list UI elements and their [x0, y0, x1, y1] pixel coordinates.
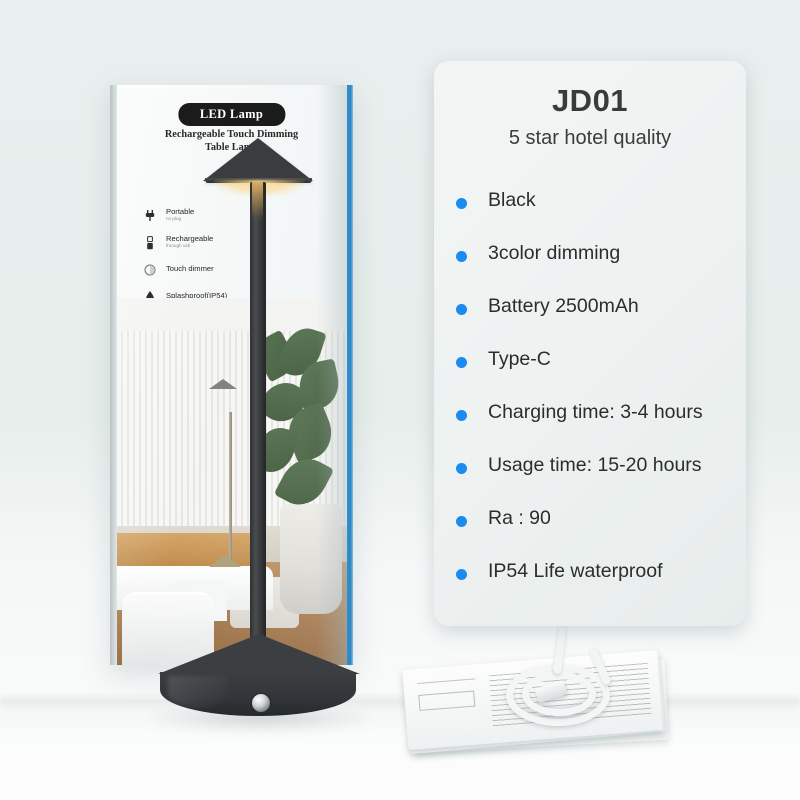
spec-label: Type-C [488, 348, 551, 371]
photo-lamp-base [209, 555, 241, 567]
plug-icon [144, 209, 156, 223]
photo-lamp-stem [229, 412, 232, 562]
box-feature-sub: through usb [166, 243, 190, 248]
box-feature-portable: Portable no plug [144, 207, 284, 229]
bullet-icon [456, 251, 467, 262]
manual-diagram-box [418, 691, 475, 711]
spec-item: Usage time: 15-20 hours [456, 454, 736, 507]
box-right-shading [317, 85, 347, 665]
bullet-icon [456, 463, 467, 474]
spec-label: Usage time: 15-20 hours [488, 454, 702, 477]
bullet-icon [456, 516, 467, 527]
spec-label: Battery 2500mAh [488, 295, 639, 318]
spec-item: Black [456, 189, 736, 242]
product-photo-scene: LED Lamp Rechargeable Touch DimmingTable… [0, 0, 800, 800]
spec-label: IP54 Life waterproof [488, 560, 663, 583]
spec-label: 3color dimming [488, 242, 620, 265]
box-feature-title: Portable [166, 207, 194, 216]
box-blue-spine [347, 85, 353, 665]
box-lifestyle-photo [117, 298, 347, 665]
spec-item: Ra : 90 [456, 507, 736, 560]
spec-item: Charging time: 3-4 hours [456, 401, 736, 454]
touch-dimmer-icon [144, 263, 156, 277]
box-feature-rechargeable: Rechargeable through usb [144, 234, 284, 256]
manual-rule [417, 678, 475, 684]
battery-usb-icon [144, 236, 156, 250]
bullet-icon [456, 410, 467, 421]
dining-chair [122, 592, 214, 665]
spec-card: JD01 5 star hotel quality Black 3color d… [434, 61, 746, 626]
spec-label: Charging time: 3-4 hours [488, 401, 703, 424]
floor-surface [0, 700, 800, 800]
photo-lamp-shade [209, 379, 237, 389]
product-box: LED Lamp Rechargeable Touch DimmingTable… [110, 85, 353, 665]
wall-floor-seam [0, 697, 800, 711]
box-feature-title: Touch dimmer [166, 264, 214, 273]
spec-item: Battery 2500mAh [456, 295, 736, 348]
bullet-icon [456, 357, 467, 368]
wall-upper-band [117, 298, 347, 331]
product-tagline: 5 star hotel quality [434, 127, 746, 150]
box-badge-led-lamp: LED Lamp [178, 103, 285, 126]
bullet-icon [456, 304, 467, 315]
spec-item: Type-C [456, 348, 736, 401]
bullet-icon [456, 198, 467, 209]
box-left-edge [110, 85, 117, 665]
spec-item: 3color dimming [456, 242, 736, 295]
spec-item: IP54 Life waterproof [456, 560, 736, 613]
product-model-title: JD01 [434, 83, 746, 119]
bullet-icon [456, 569, 467, 580]
spec-list: Black 3color dimming Battery 2500mAh Typ… [456, 189, 736, 613]
usb-c-charging-cable [500, 630, 650, 740]
spec-label: Black [488, 189, 536, 212]
box-feature-touch-dimmer: Touch dimmer [144, 261, 284, 283]
spec-label: Ra : 90 [488, 507, 551, 530]
box-feature-sub: no plug [166, 216, 181, 221]
box-feature-title: Rechargeable [166, 234, 213, 243]
